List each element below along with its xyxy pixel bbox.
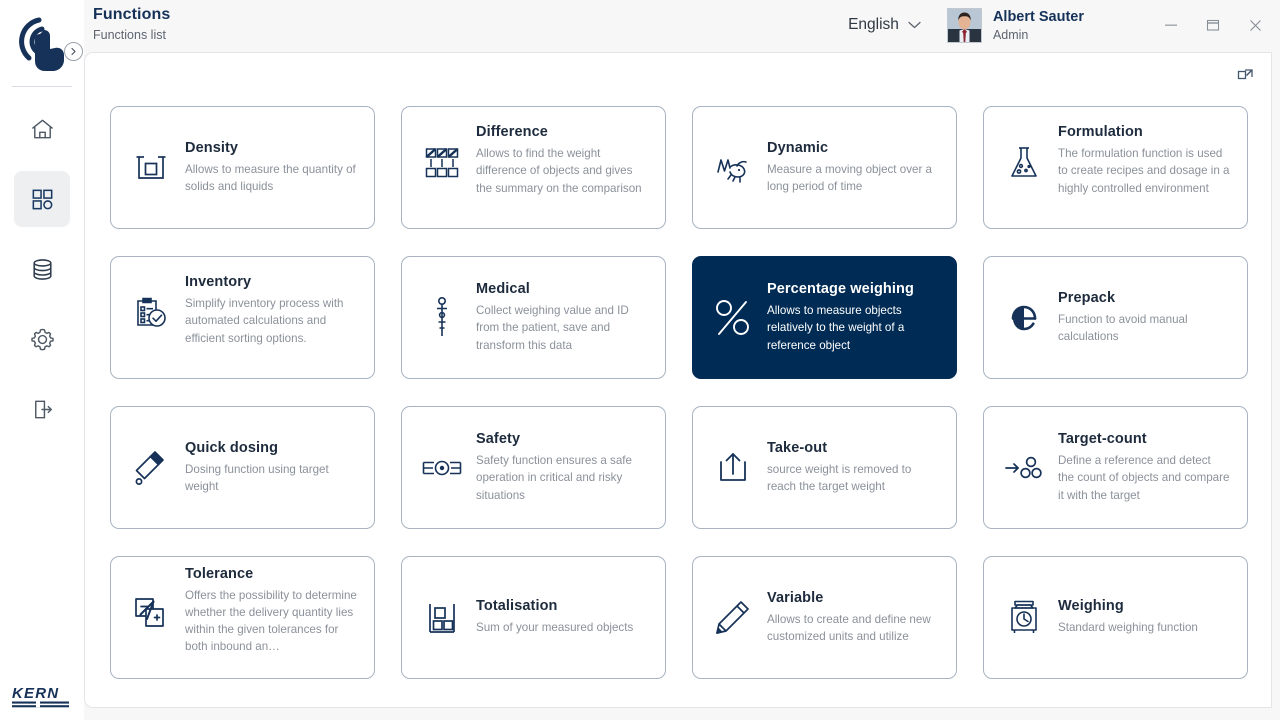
card-body: Difference Allows to find the weight dif… (476, 124, 648, 196)
function-card-weighing[interactable]: Weighing Standard weighing function (983, 556, 1248, 679)
function-card-medical[interactable]: Medical Collect weighing value and ID fr… (401, 256, 666, 379)
logout-icon (29, 396, 56, 423)
sidebar-item-home[interactable] (14, 101, 70, 157)
card-title: Percentage weighing (767, 281, 939, 297)
language-label: English (848, 16, 899, 34)
difference-blocks-icon (420, 146, 464, 180)
density-beaker-icon (129, 151, 173, 185)
card-desc: Standard weighing function (1058, 619, 1230, 636)
sidebar-item-database[interactable] (14, 241, 70, 297)
function-card-prepack[interactable]: Prepack Function to avoid manual calcula… (983, 256, 1248, 379)
card-title: Prepack (1058, 290, 1230, 306)
window-controls (1150, 8, 1276, 42)
header-right: English (848, 0, 1280, 50)
function-card-difference[interactable]: Difference Allows to find the weight dif… (401, 106, 666, 229)
function-card-formulation[interactable]: Formulation The formulation function is … (983, 106, 1248, 229)
sidebar-divider (12, 86, 72, 87)
card-desc: Allows to find the weight difference of … (476, 145, 648, 196)
sidebar: KERN (0, 0, 84, 720)
card-desc: Offers the possibility to determine whet… (185, 587, 357, 655)
card-desc: Simplify inventory process with automate… (185, 295, 357, 346)
formulation-flask-icon (1002, 145, 1046, 181)
sidebar-collapse-toggle[interactable] (64, 42, 83, 61)
card-body: Tolerance Offers the possibility to dete… (185, 566, 357, 655)
card-desc: Dosing function using target weight (185, 461, 357, 495)
card-title: Take-out (767, 440, 939, 456)
avatar (947, 8, 982, 43)
kern-wordmark: KERN (12, 684, 74, 710)
function-card-take-out[interactable]: Take-out source weight is removed to rea… (692, 406, 957, 529)
weighing-scale-icon (1002, 599, 1046, 637)
medical-rod-icon (420, 296, 464, 340)
card-title: Target-count (1058, 431, 1230, 447)
card-desc: Sum of your measured objects (476, 619, 648, 636)
card-desc: source weight is removed to reach the ta… (767, 461, 939, 495)
svg-text:KERN: KERN (12, 685, 59, 702)
user-text: Albert Sauter Admin (993, 8, 1084, 42)
card-title: Dynamic (767, 140, 939, 156)
home-icon (29, 116, 56, 143)
card-desc: Define a reference and detect the count … (1058, 452, 1230, 503)
totalisation-boxes-icon (420, 600, 464, 636)
card-title: Tolerance (185, 566, 357, 582)
maximize-button[interactable] (1192, 8, 1234, 42)
quick-dosing-pipette-icon (129, 448, 173, 488)
variable-pencil-icon (711, 599, 755, 637)
function-card-totalisation[interactable]: Totalisation Sum of your measured object… (401, 556, 666, 679)
card-desc: Allows to measure the quantity of solids… (185, 161, 357, 195)
card-body: Quick dosing Dosing function using targe… (185, 440, 357, 495)
card-desc: Function to avoid manual calculations (1058, 311, 1230, 345)
sidebar-item-logout[interactable] (14, 381, 70, 437)
header-bar: Functions Functions list English (84, 0, 1280, 52)
percent-icon (711, 296, 755, 340)
card-desc: Allows to create and define new customiz… (767, 611, 939, 645)
card-title: Safety (476, 431, 648, 447)
card-body: Percentage weighing Allows to measure ob… (767, 281, 939, 353)
card-body: Safety Safety function ensures a safe op… (476, 431, 648, 503)
language-selector[interactable]: English (848, 16, 921, 34)
sidebar-item-settings[interactable] (14, 311, 70, 367)
chevron-down-icon (908, 21, 921, 29)
card-title: Formulation (1058, 124, 1230, 140)
kern-touch-hand-icon[interactable] (11, 12, 73, 74)
function-card-density[interactable]: Density Allows to measure the quantity o… (110, 106, 375, 229)
page-title: Functions (93, 6, 170, 24)
card-body: Density Allows to measure the quantity o… (185, 140, 357, 195)
card-body: Weighing Standard weighing function (1058, 598, 1230, 636)
grid-apps-icon (29, 186, 56, 213)
expand-window-icon[interactable] (1235, 63, 1257, 85)
card-title: Inventory (185, 274, 357, 290)
content-panel: Density Allows to measure the quantity o… (84, 52, 1272, 708)
dynamic-mouse-icon (711, 153, 755, 183)
user-role: Admin (993, 28, 1084, 42)
minimize-icon (1164, 18, 1178, 32)
function-card-dynamic[interactable]: Dynamic Measure a moving object over a l… (692, 106, 957, 229)
function-card-inventory[interactable]: Inventory Simplify inventory process wit… (110, 256, 375, 379)
card-title: Variable (767, 590, 939, 606)
user-name: Albert Sauter (993, 8, 1084, 26)
function-card-tolerance[interactable]: Tolerance Offers the possibility to dete… (110, 556, 375, 679)
functions-card-grid: Density Allows to measure the quantity o… (110, 106, 1251, 679)
card-desc: The formulation function is used to crea… (1058, 145, 1230, 196)
gear-icon (29, 326, 56, 353)
target-count-icon (1002, 453, 1046, 483)
card-desc: Safety function ensures a safe operation… (476, 452, 648, 503)
inventory-clipboard-icon (129, 295, 173, 331)
function-card-percentage-weighing[interactable]: Percentage weighing Allows to measure ob… (692, 256, 957, 379)
card-title: Medical (476, 281, 648, 297)
card-body: Dynamic Measure a moving object over a l… (767, 140, 939, 195)
function-card-target-count[interactable]: Target-count Define a reference and dete… (983, 406, 1248, 529)
page-subtitle: Functions list (93, 28, 170, 42)
database-icon (29, 256, 56, 283)
prepack-e-icon (1002, 298, 1046, 338)
tolerance-plusminus-icon (129, 595, 173, 631)
safety-target-icon (420, 454, 464, 482)
card-desc: Collect weighing value and ID from the p… (476, 302, 648, 353)
function-card-quick-dosing[interactable]: Quick dosing Dosing function using targe… (110, 406, 375, 529)
card-body: Medical Collect weighing value and ID fr… (476, 281, 648, 353)
card-title: Totalisation (476, 598, 648, 614)
minimize-button[interactable] (1150, 8, 1192, 42)
card-body: Totalisation Sum of your measured object… (476, 598, 648, 636)
take-out-arrow-icon (711, 449, 755, 487)
card-body: Inventory Simplify inventory process wit… (185, 274, 357, 346)
header-titles: Functions Functions list (93, 6, 170, 42)
card-desc: Allows to measure objects relatively to … (767, 302, 939, 353)
card-body: Target-count Define a reference and dete… (1058, 431, 1230, 503)
app-window: KERN Functions Functions list English (0, 0, 1280, 720)
card-title: Quick dosing (185, 440, 357, 456)
card-title: Weighing (1058, 598, 1230, 614)
card-body: Prepack Function to avoid manual calcula… (1058, 290, 1230, 345)
card-body: Formulation The formulation function is … (1058, 124, 1230, 196)
user-profile[interactable]: Albert Sauter Admin (947, 8, 1084, 43)
close-icon (1248, 18, 1263, 33)
card-body: Variable Allows to create and define new… (767, 590, 939, 645)
function-card-variable[interactable]: Variable Allows to create and define new… (692, 556, 957, 679)
card-body: Take-out source weight is removed to rea… (767, 440, 939, 495)
close-button[interactable] (1234, 8, 1276, 42)
function-card-safety[interactable]: Safety Safety function ensures a safe op… (401, 406, 666, 529)
maximize-icon (1206, 18, 1220, 32)
card-title: Difference (476, 124, 648, 140)
card-title: Density (185, 140, 357, 156)
sidebar-item-functions[interactable] (14, 171, 70, 227)
card-desc: Measure a moving object over a long peri… (767, 161, 939, 195)
